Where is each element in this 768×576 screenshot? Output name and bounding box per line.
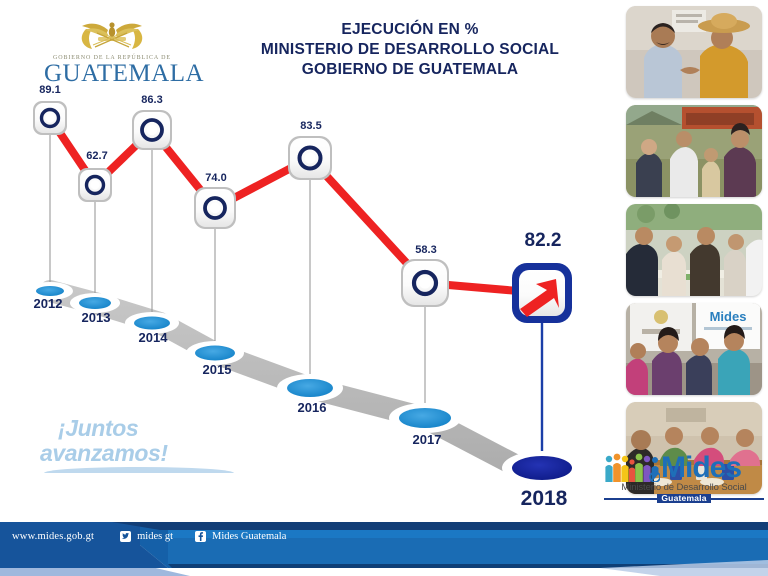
- photo-outdoor-community-event: [626, 105, 762, 197]
- photo-food-distribution-tables: [626, 204, 762, 296]
- photo-women-with-mides-banner: Mides: [626, 303, 762, 395]
- value-marker-2014: [132, 110, 172, 150]
- mides-logo: Mides Ministerio de Desarrollo Social Gu…: [604, 452, 764, 503]
- slogan: ¡Juntos avanzamos!: [58, 416, 258, 473]
- value-marker-2012: [33, 101, 67, 135]
- slogan-line-2: avanzamos!: [40, 441, 258, 466]
- value-label-2017: 58.3: [415, 244, 436, 256]
- value-marker-2018: [512, 263, 572, 323]
- footer-facebook[interactable]: Mides Guatemala: [195, 531, 286, 542]
- value-label-2015: 74.0: [205, 172, 226, 184]
- government-logo-country: GUATEMALA: [44, 61, 180, 87]
- mides-people-icon: [604, 452, 660, 482]
- year-label-2015: 2015: [203, 362, 232, 377]
- value-marker-2016: [288, 136, 332, 180]
- value-label-2012: 89.1: [39, 84, 60, 96]
- year-label-2014: 2014: [139, 330, 168, 345]
- title-line-2: MINISTERIO DE DESARROLLO SOCIAL: [200, 40, 620, 60]
- footer-bar: www.mides.gob.gt mides gt Mides Guatemal…: [0, 516, 768, 576]
- footer-twitter-handle: mides gt: [137, 531, 173, 542]
- guatemala-coat-of-arms-icon: [44, 16, 180, 54]
- mides-country-tag: Guatemala: [657, 494, 710, 503]
- footer-website[interactable]: www.mides.gob.gt: [12, 531, 94, 542]
- infographic-canvas: GOBIERNO DE LA REPÚBLICA DE GUATEMALA EJ…: [0, 0, 768, 576]
- value-label-2014: 86.3: [141, 94, 162, 106]
- facebook-icon: [195, 531, 206, 542]
- title-line-3: GOBIERNO DE GUATEMALA: [200, 60, 620, 80]
- year-label-2016: 2016: [298, 400, 327, 415]
- year-label-2018: 2018: [521, 487, 568, 511]
- mides-subtitle: Ministerio de Desarrollo Social: [604, 482, 764, 493]
- page-title: EJECUCIÓN EN % MINISTERIO DE DESARROLLO …: [200, 20, 620, 79]
- year-label-2013: 2013: [82, 310, 111, 325]
- value-marker-2013: [78, 168, 112, 202]
- value-marker-2015: [194, 187, 236, 229]
- photo-strip: Mides: [626, 6, 762, 501]
- footer-links: www.mides.gob.gt mides gt Mides Guatemal…: [12, 531, 308, 542]
- title-line-1: EJECUCIÓN EN %: [200, 20, 620, 40]
- footer-twitter[interactable]: mides gt: [120, 531, 173, 542]
- footer-facebook-page: Mides Guatemala: [212, 531, 286, 542]
- value-label-2016: 83.5: [300, 120, 321, 132]
- mides-tag-line-left: [604, 498, 657, 500]
- value-label-2013: 62.7: [86, 150, 107, 162]
- twitter-icon: [120, 531, 131, 542]
- mides-tag-line-right: [711, 498, 764, 500]
- mides-country-tag-bar: Guatemala: [604, 494, 764, 503]
- government-logo: GOBIERNO DE LA REPÚBLICA DE GUATEMALA: [44, 16, 180, 87]
- mides-wordmark: Mides: [661, 454, 741, 482]
- slogan-line-1: ¡Juntos: [58, 416, 258, 441]
- value-marker-2017: [401, 259, 449, 307]
- year-label-2017: 2017: [413, 432, 442, 447]
- value-label-2018: 82.2: [525, 230, 562, 252]
- footer-graphics: [0, 516, 768, 576]
- photo-minister-greeting-farmer: [626, 6, 762, 98]
- svg-text:Mides: Mides: [710, 309, 747, 324]
- year-label-2012: 2012: [34, 296, 63, 311]
- slogan-swoosh: [44, 467, 234, 473]
